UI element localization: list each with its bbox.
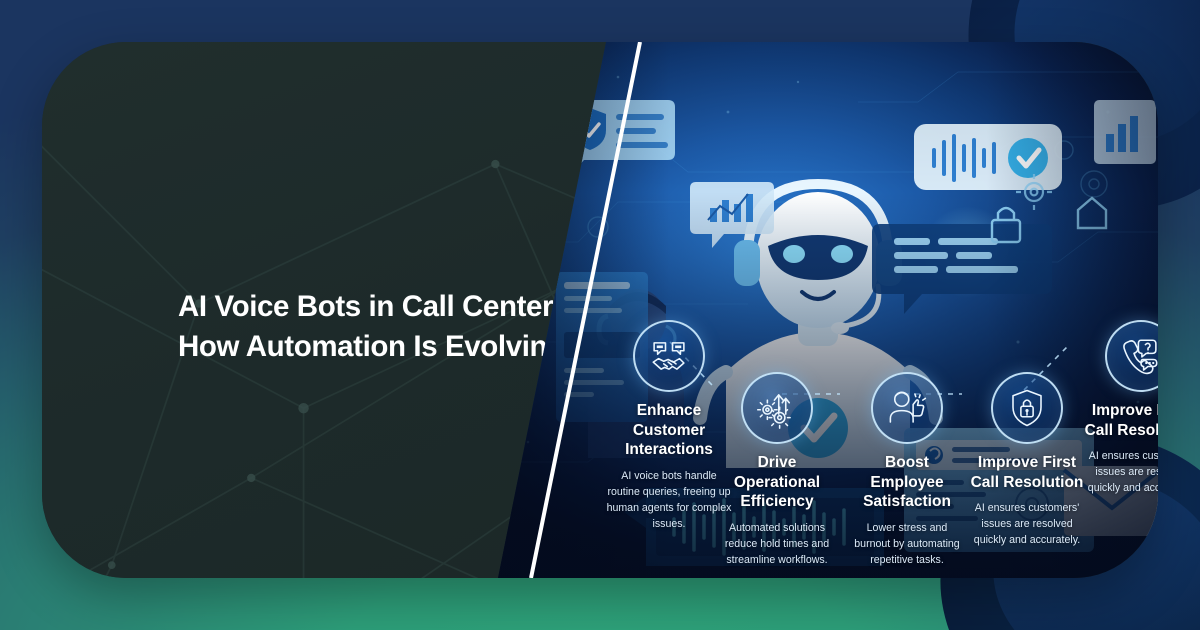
info-node-1-desc: AI voice bots handle routine queries, fr… bbox=[606, 468, 732, 532]
info-node-5-desc: AI ensures customers' issues are resolve… bbox=[1078, 448, 1158, 496]
hero-card: AI Voice Bots in Call Centers: How Autom… bbox=[42, 42, 1158, 578]
info-node-1-title: Enhance Customer Interactions bbox=[606, 401, 732, 460]
person-thumbsup-icon bbox=[871, 372, 943, 444]
handshake-chat-icon bbox=[633, 320, 705, 392]
info-node-4-title: Improve First Call Resolution bbox=[968, 453, 1086, 492]
info-node-5-title: Improve First Call Resolution bbox=[1078, 401, 1158, 440]
phone-question-icon bbox=[1105, 320, 1158, 392]
info-node-2[interactable]: Drive Operational Efficiency Automated s… bbox=[718, 372, 836, 568]
info-node-1[interactable]: Enhance Customer Interactions AI voice b… bbox=[606, 320, 732, 532]
info-node-3[interactable]: Boost Employee Satisfaction Lower stress… bbox=[848, 372, 966, 568]
info-node-2-desc: Automated solutions reduce hold times an… bbox=[718, 520, 836, 568]
gears-uparrow-icon bbox=[741, 372, 813, 444]
info-node-4[interactable]: Improve First Call Resolution AI ensures… bbox=[968, 372, 1086, 548]
shield-lock-icon bbox=[991, 372, 1063, 444]
info-node-3-title: Boost Employee Satisfaction bbox=[848, 453, 966, 512]
info-node-5[interactable]: Improve First Call Resolution AI ensures… bbox=[1078, 320, 1158, 496]
info-node-4-desc: AI ensures customers' issues are resolve… bbox=[968, 500, 1086, 548]
info-node-3-desc: Lower stress and burnout by automating r… bbox=[848, 520, 966, 568]
infographic: Enhance Customer Interactions AI voice b… bbox=[42, 42, 1158, 578]
info-node-2-title: Drive Operational Efficiency bbox=[718, 453, 836, 512]
